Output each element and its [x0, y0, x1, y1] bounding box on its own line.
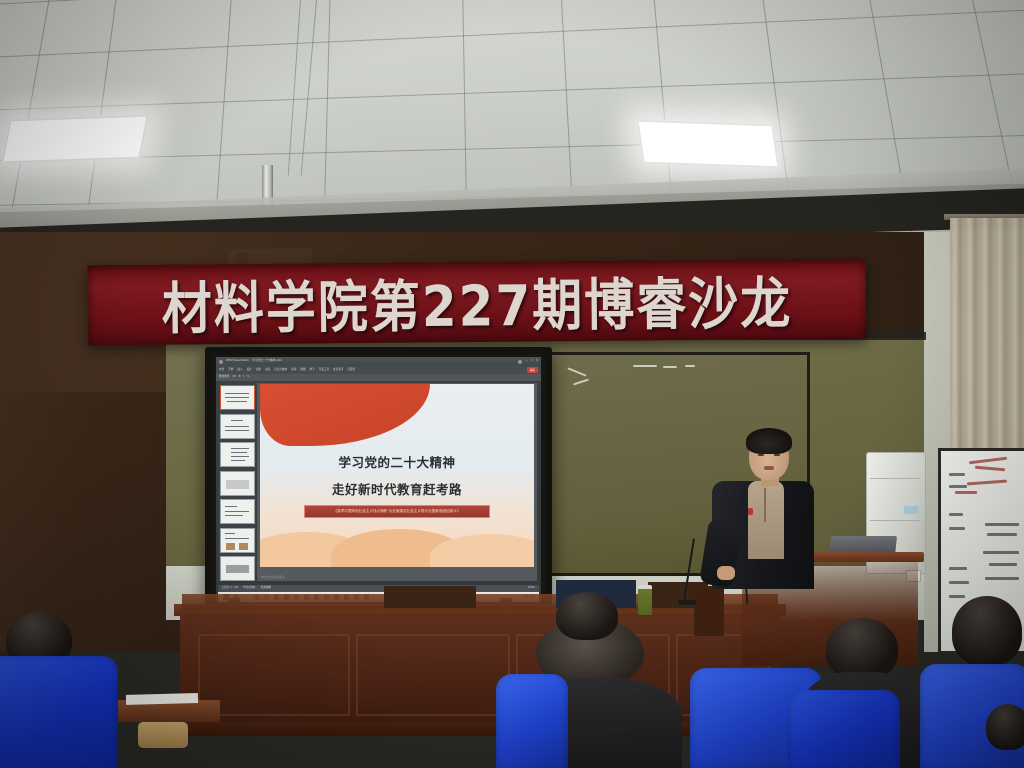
ribbon-tab[interactable]: 视图 — [300, 369, 305, 372]
audience-chair — [788, 690, 900, 768]
current-slide: 学习党的二十大精神 走好新时代教育赶考路 《高举中国特色社会主义伟大旗帜 为全面… — [260, 384, 534, 567]
ribbon-tab[interactable]: 会员专享 — [333, 369, 343, 372]
speaker-zipper — [764, 488, 766, 522]
slide-thumbnail[interactable] — [220, 442, 255, 467]
slide-title-line2: 走好新时代教育赶考路 — [260, 479, 534, 498]
slide-counter: 幻灯片 1 / 28 — [222, 587, 238, 590]
ribbon-tab[interactable]: 云服务 — [347, 369, 355, 372]
slide-thumbnail[interactable] — [220, 471, 255, 496]
audience-head — [556, 592, 618, 640]
font-size-selector[interactable]: 18 — [232, 376, 235, 379]
account-avatar[interactable] — [518, 360, 522, 364]
audience-chair — [496, 674, 568, 768]
underline-icon[interactable]: U — [247, 376, 249, 379]
ribbon-tabs[interactable]: 文件 开始 插入 设计 切换 动画 幻灯片放映 审阅 视图 章节 开发工具 会员… — [216, 366, 541, 374]
audience-head — [986, 704, 1024, 750]
stage-chair-back — [384, 586, 476, 608]
ribbon-tab[interactable]: 插入 — [237, 369, 242, 372]
ribbon-tab[interactable]: 开发工具 — [319, 369, 329, 372]
ac-label — [904, 506, 918, 514]
ceiling-light-left — [1, 115, 149, 164]
lecture-hall-photo: 材料学院第227期博睿沙龙 WPS Presentation 学习党的二十大精神… — [0, 0, 1024, 768]
banner-title: 材料学院第227期博睿沙龙 — [161, 259, 792, 345]
speaker-sweater — [748, 481, 784, 559]
wps-logo-icon — [219, 360, 223, 364]
desk-paper — [126, 693, 198, 705]
slide-thumbnail[interactable] — [220, 556, 255, 581]
audience-head — [952, 596, 1022, 666]
font-selector[interactable]: 微软雅黑 — [219, 376, 229, 379]
audience-chair — [0, 656, 118, 768]
audience-head — [826, 618, 898, 680]
slide-title-line1: 学习党的二十大精神 — [260, 452, 534, 471]
ribbon-tab[interactable]: 切换 — [256, 369, 261, 372]
ribbon-tab[interactable]: 审阅 — [291, 369, 296, 372]
slide-canvas[interactable]: 学习党的二十大精神 走好新时代教育赶考路 《高举中国特色社会主义伟大旗帜 为全面… — [257, 383, 537, 581]
document-tab-chip[interactable]: 学习党的二十大精神.pptx — [252, 360, 282, 363]
wps-titlebar: WPS Presentation 学习党的二十大精神.pptx — ▫ ✕ — [216, 357, 541, 366]
maximize-icon[interactable]: ▫ — [531, 360, 533, 363]
interactive-display[interactable]: WPS Presentation 学习党的二十大精神.pptx — ▫ ✕ 文件… — [205, 347, 552, 614]
slide-thumbnail-panel[interactable] — [218, 383, 256, 581]
slide-thumbnail[interactable] — [220, 385, 255, 410]
podium-side-chair — [694, 586, 724, 636]
ribbon-tab[interactable]: 动画 — [265, 369, 270, 372]
ribbon-tab[interactable]: 文件 — [219, 369, 224, 372]
event-banner: 材料学院第227期博睿沙龙 — [88, 259, 867, 346]
slide-thumbnail[interactable] — [220, 414, 255, 439]
speaker-hand — [717, 566, 735, 580]
italic-icon[interactable]: I — [243, 376, 244, 379]
microphone-base — [678, 600, 696, 605]
ribbon-tab[interactable]: 开始 — [228, 369, 233, 372]
minimize-icon[interactable]: — — [525, 360, 528, 363]
ppt-status-bar: 幻灯片 1 / 28 中文(简体) 普通视图 100% — [218, 585, 539, 592]
speaker-eye-left — [758, 454, 764, 456]
ribbon-tab[interactable]: 章节 — [309, 369, 314, 372]
close-icon[interactable]: ✕ — [536, 360, 538, 363]
slide-thumbnail[interactable] — [220, 499, 255, 524]
thermos-bottle — [638, 585, 652, 615]
slide-notes-placeholder[interactable]: 单击此处添加备注 — [261, 575, 285, 579]
save-button[interactable]: 保存 — [527, 367, 538, 373]
lapel-microphone — [748, 508, 753, 515]
speaker-hair — [746, 428, 792, 454]
display-screen[interactable]: WPS Presentation 学习党的二十大精神.pptx — ▫ ✕ 文件… — [216, 357, 541, 603]
language-indicator[interactable]: 中文(简体) — [243, 587, 255, 590]
bold-icon[interactable]: B — [239, 376, 241, 379]
slide-thumbnail[interactable] — [220, 528, 255, 553]
wps-app-chip[interactable]: WPS Presentation — [226, 360, 249, 363]
speaker-mouth — [764, 466, 774, 470]
slide-red-banner-shape — [260, 384, 430, 446]
slide-subtitle: 《高举中国特色社会主义伟大旗帜 为全面建设社会主义现代化国家而团结奋斗》 — [304, 505, 490, 518]
speaker-eye-right — [774, 454, 780, 456]
view-mode-label[interactable]: 普通视图 — [261, 587, 271, 590]
ribbon-tab[interactable]: 设计 — [247, 369, 252, 372]
ceiling-light-right — [637, 120, 780, 169]
zoom-level[interactable]: 100% — [528, 587, 535, 590]
ribbon-tab[interactable]: 幻灯片放映 — [274, 369, 287, 372]
desk-bag — [138, 722, 188, 748]
ribbon-toolbar[interactable]: 微软雅黑 18 B I U — [216, 374, 541, 381]
